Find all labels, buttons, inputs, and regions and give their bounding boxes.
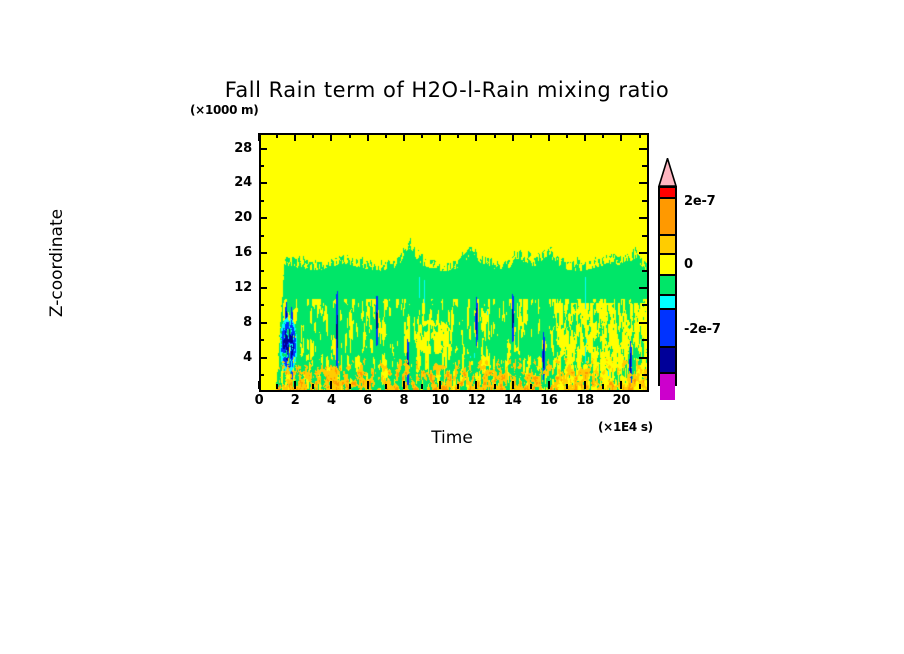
y-tick-mark	[259, 148, 267, 150]
x-tick-minor	[421, 384, 423, 389]
x-tick-minor	[421, 133, 423, 138]
x-tick-mark	[548, 381, 550, 389]
colorbar-band	[660, 255, 675, 276]
x-tick-minor	[385, 133, 387, 138]
y-tick-label: 28	[212, 141, 252, 156]
x-tick-minor	[457, 384, 459, 389]
x-tick-mark	[403, 381, 405, 389]
x-tick-minor	[566, 384, 568, 389]
x-tick-mark-top	[512, 133, 514, 141]
y-tick-minor	[259, 200, 264, 202]
x-tick-mark	[620, 381, 622, 389]
y-tick-minor	[259, 165, 264, 167]
colorbar-band	[660, 296, 675, 310]
x-tick-label: 14	[493, 393, 533, 408]
x-tick-minor	[639, 384, 641, 389]
y-tick-minor	[259, 304, 264, 306]
y-tick-mark	[259, 322, 267, 324]
x-tick-minor	[385, 384, 387, 389]
x-tick-mark-top	[367, 133, 369, 141]
x-tick-label: 8	[384, 393, 424, 408]
x-axis-unit-label: (×1E4 s)	[598, 420, 653, 434]
y-tick-mark	[639, 252, 647, 254]
x-tick-minor	[312, 133, 314, 138]
colorbar-tick-label: 0	[684, 257, 693, 272]
y-tick-mark	[639, 148, 647, 150]
x-tick-mark	[258, 381, 260, 389]
colorbar-arrow-icon	[658, 158, 677, 187]
x-tick-label: 18	[565, 393, 605, 408]
x-tick-mark	[439, 381, 441, 389]
y-tick-label: 20	[212, 210, 252, 225]
y-tick-mark	[639, 357, 647, 359]
x-tick-minor	[312, 384, 314, 389]
contour-field	[261, 135, 647, 390]
colorbar-tick-label: 2e-7	[684, 194, 716, 209]
colorbar-band	[660, 310, 675, 348]
x-tick-mark	[512, 381, 514, 389]
y-tick-mark	[639, 322, 647, 324]
y-tick-mark	[259, 182, 267, 184]
x-axis-title: Time	[352, 428, 552, 448]
y-tick-mark	[259, 287, 267, 289]
x-tick-label: 10	[420, 393, 460, 408]
x-tick-mark	[584, 381, 586, 389]
x-tick-minor	[276, 133, 278, 138]
x-tick-minor	[457, 133, 459, 138]
x-tick-label: 2	[275, 393, 315, 408]
y-tick-minor	[259, 235, 264, 237]
x-tick-minor	[602, 133, 604, 138]
x-tick-minor	[276, 384, 278, 389]
x-tick-minor	[566, 133, 568, 138]
x-tick-mark-top	[294, 133, 296, 141]
y-tick-minor	[642, 339, 647, 341]
x-tick-minor	[349, 133, 351, 138]
x-tick-minor	[494, 384, 496, 389]
y-tick-label: 8	[212, 315, 252, 330]
y-tick-mark	[259, 357, 267, 359]
x-tick-minor	[494, 133, 496, 138]
y-tick-minor	[642, 304, 647, 306]
y-axis-title: Z-coordinate	[47, 173, 67, 353]
x-tick-mark-top	[403, 133, 405, 141]
y-tick-mark	[259, 252, 267, 254]
y-tick-label: 12	[212, 280, 252, 295]
chart-title-text: Fall Rain term of H2O-l-Rain mixing rati…	[225, 78, 670, 102]
y-tick-minor	[642, 235, 647, 237]
colorbar-band	[660, 348, 675, 374]
y-tick-minor	[259, 339, 264, 341]
x-tick-mark-top	[258, 133, 260, 141]
x-tick-label: 0	[239, 393, 279, 408]
x-tick-label: 4	[311, 393, 351, 408]
x-tick-label: 16	[529, 393, 569, 408]
y-tick-minor	[642, 165, 647, 167]
x-tick-minor	[602, 384, 604, 389]
y-tick-mark	[259, 217, 267, 219]
figure-canvas: Fall Rain term of H2O-l-Rain mixing rati…	[0, 0, 904, 654]
colorbar	[658, 186, 677, 386]
y-tick-label: 24	[212, 175, 252, 190]
y-tick-minor	[642, 374, 647, 376]
x-tick-label: 12	[456, 393, 496, 408]
y-tick-minor	[259, 374, 264, 376]
y-tick-minor	[259, 270, 264, 272]
x-tick-minor	[349, 384, 351, 389]
colorbar-band	[660, 188, 675, 199]
x-tick-minor	[530, 384, 532, 389]
x-tick-mark-top	[548, 133, 550, 141]
y-tick-minor	[642, 270, 647, 272]
y-tick-mark	[639, 217, 647, 219]
x-tick-mark-top	[584, 133, 586, 141]
y-tick-label: 16	[212, 245, 252, 260]
chart-title: Fall Rain term of H2O-l-Rain mixing rati…	[0, 78, 904, 102]
x-tick-mark-top	[475, 133, 477, 141]
y-tick-mark	[639, 182, 647, 184]
x-tick-mark-top	[439, 133, 441, 141]
x-tick-mark	[367, 381, 369, 389]
x-tick-label: 20	[601, 393, 641, 408]
y-tick-label: 4	[212, 350, 252, 365]
y-tick-minor	[642, 200, 647, 202]
x-tick-mark	[475, 381, 477, 389]
x-tick-mark	[294, 381, 296, 389]
x-tick-label: 6	[348, 393, 388, 408]
x-tick-mark-top	[330, 133, 332, 141]
colorbar-band	[660, 276, 675, 296]
colorbar-band	[660, 374, 675, 400]
x-tick-mark-top	[620, 133, 622, 141]
colorbar-band	[660, 236, 675, 255]
y-axis-unit-label: (×1000 m)	[190, 103, 258, 117]
x-tick-minor	[530, 133, 532, 138]
colorbar-band	[660, 199, 675, 236]
colorbar-tick-label: -2e-7	[684, 322, 721, 337]
plot-area	[259, 133, 649, 392]
x-tick-minor	[639, 133, 641, 138]
x-tick-mark	[330, 381, 332, 389]
y-tick-mark	[639, 287, 647, 289]
